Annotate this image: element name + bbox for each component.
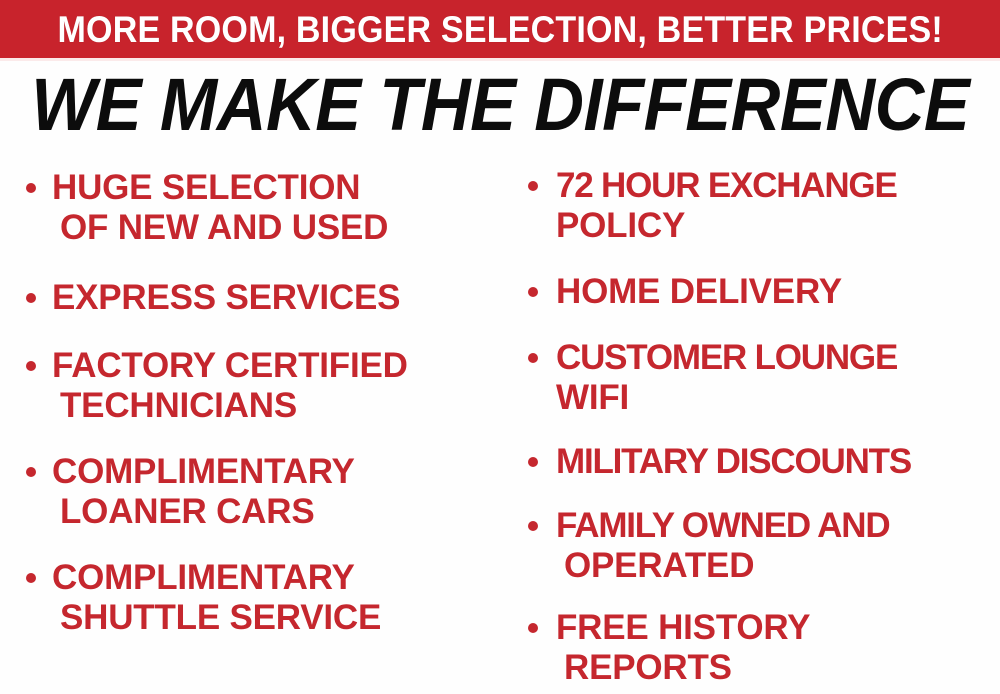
list-item-line: WIFI <box>556 378 1000 418</box>
advertisement-banner: MORE ROOM, BIGGER SELECTION, BETTER PRIC… <box>0 0 1000 694</box>
list-item: COMPLIMENTARY SHUTTLE SERVICE <box>0 558 500 638</box>
bullet-dot-icon <box>26 183 36 193</box>
headline-container: WE MAKE THE DIFFERENCE <box>0 66 1000 144</box>
list-item-line: MILITARY DISCOUNTS <box>556 442 1000 482</box>
list-item: FACTORY CERTIFIED TECHNICIANS <box>0 346 500 426</box>
list-item-line: FREE HISTORY <box>556 608 1000 648</box>
list-item-line: CUSTOMER LOUNGE <box>556 338 1000 378</box>
list-item: CUSTOMER LOUNGE WIFI <box>500 338 1000 418</box>
list-item-line: COMPLIMENTARY <box>52 558 500 598</box>
list-item-line: HOME DELIVERY <box>556 272 1000 312</box>
list-item: MILITARY DISCOUNTS <box>500 442 1000 482</box>
bullet-dot-icon <box>528 457 538 467</box>
list-item-line: EXPRESS SERVICES <box>52 278 500 318</box>
bullet-dot-icon <box>26 293 36 303</box>
bullet-dot-icon <box>528 353 538 363</box>
list-item-line: POLICY <box>556 206 1000 246</box>
list-item-line: OPERATED <box>556 546 1000 586</box>
benefits-column-left: HUGE SELECTION OF NEW AND USED EXPRESS S… <box>0 160 500 694</box>
list-item-line: TECHNICIANS <box>52 386 500 426</box>
list-item-line: HUGE SELECTION <box>52 168 500 208</box>
page-title: WE MAKE THE DIFFERENCE <box>31 68 969 142</box>
list-item-line: FACTORY CERTIFIED <box>52 346 500 386</box>
list-item-line: FAMILY OWNED AND <box>556 506 1000 546</box>
top-promo-banner: MORE ROOM, BIGGER SELECTION, BETTER PRIC… <box>0 0 1000 58</box>
top-promo-banner-text: MORE ROOM, BIGGER SELECTION, BETTER PRIC… <box>57 11 942 48</box>
list-item: FREE HISTORY REPORTS <box>500 608 1000 688</box>
list-item: HOME DELIVERY <box>500 272 1000 312</box>
list-item-line: REPORTS <box>556 648 1000 688</box>
bullet-dot-icon <box>26 467 36 477</box>
list-item-line: SHUTTLE SERVICE <box>52 598 500 638</box>
list-item: FAMILY OWNED AND OPERATED <box>500 506 1000 586</box>
bullet-dot-icon <box>528 287 538 297</box>
list-item-line: LOANER CARS <box>52 492 500 532</box>
list-item: HUGE SELECTION OF NEW AND USED <box>0 168 500 248</box>
list-item-line: COMPLIMENTARY <box>52 452 500 492</box>
bullet-dot-icon <box>528 623 538 633</box>
benefits-column-right: 72 HOUR EXCHANGE POLICY HOME DELIVERY CU… <box>500 160 1000 694</box>
bullet-dot-icon <box>26 361 36 371</box>
bullet-dot-icon <box>528 521 538 531</box>
bullet-dot-icon <box>26 573 36 583</box>
benefits-columns: HUGE SELECTION OF NEW AND USED EXPRESS S… <box>0 160 1000 694</box>
list-item-line: OF NEW AND USED <box>52 208 500 248</box>
list-item-line: 72 HOUR EXCHANGE <box>556 166 1000 206</box>
list-item: COMPLIMENTARY LOANER CARS <box>0 452 500 532</box>
bullet-dot-icon <box>528 181 538 191</box>
list-item: EXPRESS SERVICES <box>0 278 500 318</box>
list-item: 72 HOUR EXCHANGE POLICY <box>500 166 1000 246</box>
banner-underline-divider <box>0 58 1000 61</box>
